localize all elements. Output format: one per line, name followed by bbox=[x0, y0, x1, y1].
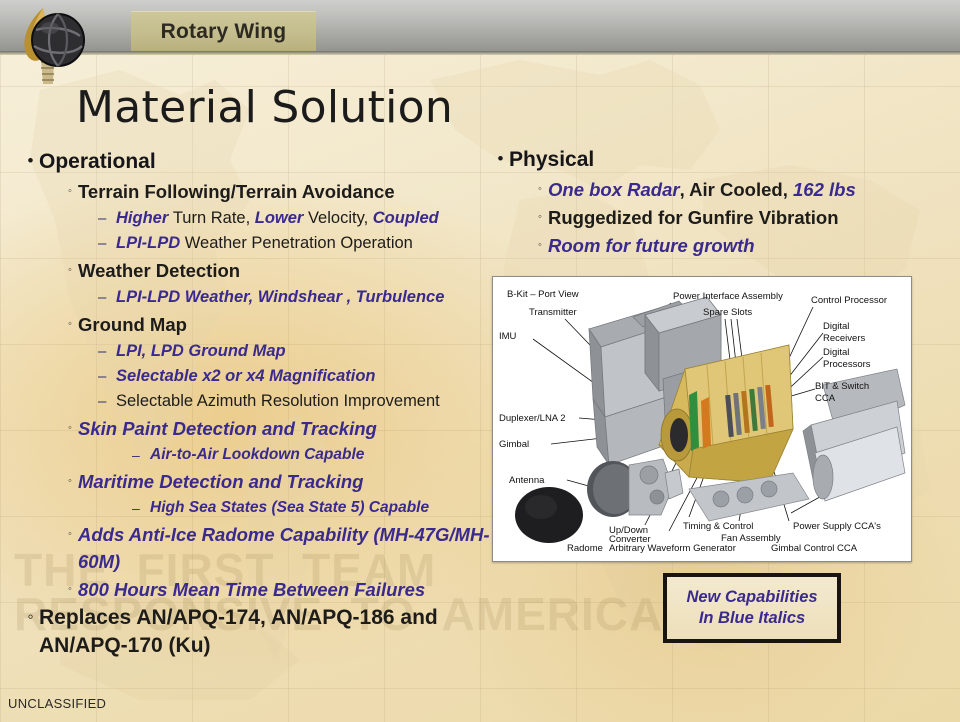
left-column-heading: • Operational bbox=[22, 148, 492, 176]
left-column: • Operational ◦Terrain Following/Terrain… bbox=[22, 148, 492, 662]
classification-footer: UNCLASSIFIED bbox=[8, 696, 106, 711]
bullet-item: –LPI-LPD Weather, Windshear , Turbulence bbox=[22, 285, 492, 310]
dash-bullet-icon: – bbox=[132, 496, 150, 520]
text-run: Higher bbox=[116, 209, 173, 227]
bullet-label: Weather Detection bbox=[78, 257, 240, 284]
text-run: Velocity, bbox=[308, 209, 373, 227]
bullet-item: ◦Adds Anti-Ice Radome Capability (MH-47G… bbox=[22, 521, 492, 575]
bullet-item: ◦Maritime Detection and Tracking bbox=[22, 468, 492, 495]
bullet-label: Ruggedized for Gunfire Vibration bbox=[548, 204, 839, 231]
bullet-item: ◦Replaces AN/APQ-174, AN/APQ-186 and AN/… bbox=[22, 604, 492, 660]
text-run: , Air Cooled, bbox=[680, 179, 793, 200]
text-run: LPI, LPD Ground Map bbox=[116, 342, 286, 360]
right-heading-label: Physical bbox=[509, 146, 594, 174]
bullet-label: Selectable Azimuth Resolution Improvemen… bbox=[116, 389, 440, 414]
diagram-label-bit-switch-1: BIT & Switch bbox=[815, 381, 869, 392]
circle-bullet-icon: ◦ bbox=[62, 415, 78, 442]
bullet-label: Room for future growth bbox=[548, 232, 755, 259]
right-column-heading: • Physical bbox=[492, 146, 942, 174]
slide: THE FIRST TEAM RESPONSIVE TO AMERICA Rot… bbox=[0, 0, 960, 722]
circle-bullet-icon: ◦ bbox=[62, 311, 78, 338]
bullet-item: –LPI, LPD Ground Map bbox=[22, 339, 492, 364]
text-run: Terrain Following/Terrain Avoidance bbox=[78, 181, 395, 202]
bullet-label: Maritime Detection and Tracking bbox=[78, 468, 363, 495]
diagram-label-power-supply-ccas: Power Supply CCA's bbox=[793, 521, 881, 532]
diagram-label-timing-control: Timing & Control bbox=[683, 521, 753, 532]
diagram-label-bit-switch-2: CCA bbox=[815, 393, 836, 404]
bullet-item: ◦Ground Map bbox=[22, 311, 492, 338]
bullet-dot-icon: • bbox=[22, 148, 39, 174]
dash-bullet-icon: – bbox=[98, 364, 116, 389]
diagram-label-gimbal: Gimbal bbox=[499, 439, 529, 450]
bullet-label: Higher Turn Rate, Lower Velocity, Couple… bbox=[116, 206, 439, 231]
header-tab-label: Rotary Wing bbox=[161, 20, 287, 44]
text-run: High Sea States (Sea State 5) Capable bbox=[150, 499, 429, 516]
diagram-label-transmitter: Transmitter bbox=[529, 307, 577, 318]
bullet-label: Air-to-Air Lookdown Capable bbox=[150, 443, 364, 467]
diagram-label-digital-processors-1: Digital bbox=[823, 347, 849, 358]
dash-bullet-icon: – bbox=[98, 206, 116, 231]
bullet-label: LPI-LPD Weather Penetration Operation bbox=[116, 231, 413, 256]
bullet-label: Ground Map bbox=[78, 311, 187, 338]
bullet-item: ◦One box Radar, Air Cooled, 162 lbs bbox=[492, 176, 942, 203]
text-run: Lower bbox=[255, 209, 308, 227]
text-run: 162 lbs bbox=[793, 179, 856, 200]
diagram-label-digital-receivers-1: Digital bbox=[823, 321, 849, 332]
bullet-label: LPI, LPD Ground Map bbox=[116, 339, 286, 364]
bullet-item: ◦Ruggedized for Gunfire Vibration bbox=[492, 204, 942, 231]
bullet-item: –Higher Turn Rate, Lower Velocity, Coupl… bbox=[22, 206, 492, 231]
dash-bullet-icon: – bbox=[98, 231, 116, 256]
bullet-item: –Selectable Azimuth Resolution Improveme… bbox=[22, 389, 492, 414]
bullet-label: One box Radar, Air Cooled, 162 lbs bbox=[548, 176, 856, 203]
bullet-dot-icon: • bbox=[492, 146, 509, 172]
diagram-label-imu: IMU bbox=[499, 331, 517, 342]
bullet-item: ◦Terrain Following/Terrain Avoidance bbox=[22, 178, 492, 205]
new-capabilities-callout: New Capabilities In Blue Italics bbox=[663, 573, 841, 643]
text-run: LPI-LPD bbox=[116, 234, 185, 252]
dash-bullet-icon: – bbox=[98, 339, 116, 364]
text-run: Weather Detection bbox=[78, 260, 240, 281]
bullet-label: Skin Paint Detection and Tracking bbox=[78, 415, 377, 442]
diagram-label-antenna: Antenna bbox=[509, 475, 545, 486]
bullet-label: Adds Anti-Ice Radome Capability (MH-47G/… bbox=[78, 521, 492, 575]
right-bullet-list: ◦One box Radar, Air Cooled, 162 lbs◦Rugg… bbox=[492, 176, 942, 259]
header-band: Rotary Wing bbox=[0, 0, 960, 55]
page-title: Material Solution bbox=[76, 82, 453, 133]
bullet-label: High Sea States (Sea State 5) Capable bbox=[150, 496, 429, 520]
text-run: Adds Anti-Ice Radome Capability (MH-47G/… bbox=[78, 524, 490, 572]
bullet-label: LPI-LPD Weather, Windshear , Turbulence bbox=[116, 285, 444, 310]
text-run: Air-to-Air Lookdown Capable bbox=[150, 446, 364, 463]
text-run: Selectable x2 or x4 Magnification bbox=[116, 367, 376, 385]
diagram-label-gimbal-control-cca: Gimbal Control CCA bbox=[771, 543, 858, 554]
callout-line-1: New Capabilities bbox=[686, 587, 817, 608]
diagram-label-b-kit: B-Kit – Port View bbox=[507, 289, 579, 300]
diagram-label-control-processor: Control Processor bbox=[811, 295, 887, 306]
bullet-item: ◦Room for future growth bbox=[492, 232, 942, 259]
diagram-label-spare-slots: Spare Slots bbox=[703, 307, 752, 318]
bullet-item: –LPI-LPD Weather Penetration Operation bbox=[22, 231, 492, 256]
text-run: Coupled bbox=[373, 209, 439, 227]
diagram-label-digital-processors-2: Processors bbox=[823, 359, 871, 370]
dash-bullet-icon: – bbox=[98, 389, 116, 414]
bullet-item: ◦800 Hours Mean Time Between Failures bbox=[22, 576, 492, 603]
text-run: One box Radar bbox=[548, 179, 680, 200]
diagram-label-digital-receivers-2: Receivers bbox=[823, 333, 865, 344]
bullet-label: 800 Hours Mean Time Between Failures bbox=[78, 576, 425, 603]
circle-bullet-icon: ◦ bbox=[62, 257, 78, 284]
left-bullet-list: ◦Terrain Following/Terrain Avoidance–Hig… bbox=[22, 178, 492, 660]
circle-bullet-icon: ◦ bbox=[62, 521, 78, 548]
right-column: • Physical ◦One box Radar, Air Cooled, 1… bbox=[492, 146, 942, 260]
left-heading-label: Operational bbox=[39, 148, 156, 176]
bullet-item: –High Sea States (Sea State 5) Capable bbox=[22, 496, 492, 520]
circle-bullet-icon: ◦ bbox=[532, 232, 548, 259]
bullet-item: –Selectable x2 or x4 Magnification bbox=[22, 364, 492, 389]
header-tab-rotary-wing[interactable]: Rotary Wing bbox=[131, 11, 316, 51]
circle-bullet-icon: ◦ bbox=[62, 468, 78, 495]
bullet-item: ◦Skin Paint Detection and Tracking bbox=[22, 415, 492, 442]
text-run: Ruggedized for Gunfire Vibration bbox=[548, 207, 839, 228]
dash-bullet-icon: – bbox=[98, 285, 116, 310]
text-run: Ground Map bbox=[78, 314, 187, 335]
text-run: Turn Rate, bbox=[173, 209, 255, 227]
callout-line-2: In Blue Italics bbox=[699, 608, 805, 629]
bullet-label: Replaces AN/APQ-174, AN/APQ-186 and AN/A… bbox=[39, 604, 492, 660]
circle-bullet-icon: ◦ bbox=[532, 204, 548, 231]
diagram-label-duplexer: Duplexer/LNA 2 bbox=[499, 413, 566, 424]
bullet-label: Terrain Following/Terrain Avoidance bbox=[78, 178, 395, 205]
text-run: Replaces AN/APQ-174, AN/APQ-186 and AN/A… bbox=[39, 606, 438, 657]
text-run: Skin Paint Detection and Tracking bbox=[78, 418, 377, 439]
text-run: Maritime Detection and Tracking bbox=[78, 471, 363, 492]
text-run: Room for future growth bbox=[548, 235, 755, 256]
bkit-exploded-diagram: B-Kit – Port View Transmitter IMU Duplex… bbox=[492, 276, 912, 562]
bullet-label: Selectable x2 or x4 Magnification bbox=[116, 364, 376, 389]
text-run: LPI-LPD Weather, Windshear , Turbulence bbox=[116, 288, 444, 306]
text-run: Weather Penetration Operation bbox=[185, 234, 413, 252]
circle-bullet-icon: ◦ bbox=[532, 176, 548, 203]
circle-bullet-icon: ◦ bbox=[22, 604, 39, 630]
bullet-item: –Air-to-Air Lookdown Capable bbox=[22, 443, 492, 467]
circle-bullet-icon: ◦ bbox=[62, 576, 78, 603]
circle-bullet-icon: ◦ bbox=[62, 178, 78, 205]
text-run: 800 Hours Mean Time Between Failures bbox=[78, 579, 425, 600]
diagram-label-power-interface: Power Interface Assembly bbox=[673, 291, 783, 302]
diagram-label-awg: Arbitrary Waveform Generator bbox=[609, 543, 736, 554]
diagram-label-radome: Radome bbox=[567, 543, 603, 554]
dash-bullet-icon: – bbox=[132, 443, 150, 467]
bullet-item: ◦Weather Detection bbox=[22, 257, 492, 284]
text-run: Selectable Azimuth Resolution Improvemen… bbox=[116, 392, 440, 410]
